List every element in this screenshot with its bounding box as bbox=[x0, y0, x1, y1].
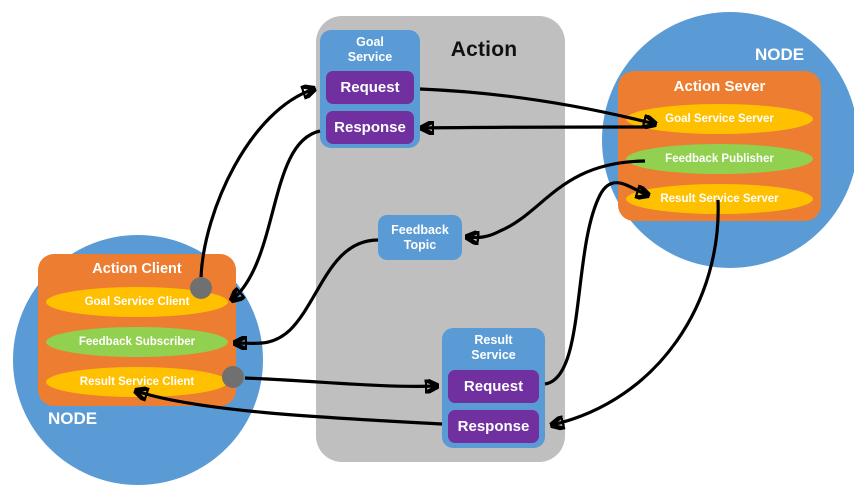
action-server-title: Action Sever bbox=[618, 78, 821, 95]
goal-service-box: Goal Service Request Response bbox=[320, 30, 420, 148]
goal-service-server-interface[interactable]: Goal Service Server bbox=[626, 104, 813, 134]
result-service-title: Result Service bbox=[442, 333, 545, 363]
action-client-title: Action Client bbox=[38, 261, 236, 277]
result-service-request-box[interactable]: Request bbox=[448, 370, 539, 403]
action-panel-label: Action bbox=[424, 38, 544, 62]
goal-service-request-box[interactable]: Request bbox=[326, 71, 414, 104]
arrow-goal-client-to-request bbox=[201, 89, 314, 277]
action-client-box: Action Client Goal Service Client Feedba… bbox=[38, 254, 236, 406]
result-service-server-interface[interactable]: Result Service Server bbox=[626, 184, 813, 214]
client-node-label: NODE bbox=[48, 409, 97, 429]
arrow-goal-response-to-client bbox=[232, 131, 320, 300]
feedback-topic-box[interactable]: Feedback Topic bbox=[378, 215, 462, 260]
server-node-label: NODE bbox=[755, 45, 804, 65]
goal-service-title-line2: Service bbox=[348, 50, 392, 64]
result-service-client-connector-dot bbox=[222, 366, 244, 388]
action-server-box: Action Sever Goal Service Server Feedbac… bbox=[618, 71, 821, 221]
result-service-client-interface[interactable]: Result Service Client bbox=[46, 367, 228, 397]
result-service-title-line1: Result bbox=[474, 333, 512, 347]
goal-service-client-connector-dot bbox=[190, 277, 212, 299]
goal-service-title: Goal Service bbox=[320, 35, 420, 65]
goal-service-response-box[interactable]: Response bbox=[326, 111, 414, 144]
feedback-publisher-interface[interactable]: Feedback Publisher bbox=[626, 144, 813, 174]
result-service-box: Result Service Request Response bbox=[442, 328, 545, 448]
diagram-canvas: Action NODE Action Client Goal Service C… bbox=[0, 0, 854, 480]
result-service-response-box[interactable]: Response bbox=[448, 410, 539, 443]
feedback-topic-line1: Feedback bbox=[391, 223, 449, 237]
feedback-subscriber-interface[interactable]: Feedback Subscriber bbox=[46, 327, 228, 357]
result-service-title-line2: Service bbox=[471, 348, 515, 362]
feedback-topic-label: Feedback Topic bbox=[391, 223, 449, 253]
feedback-topic-line2: Topic bbox=[404, 238, 436, 252]
goal-service-title-line1: Goal bbox=[356, 35, 384, 49]
